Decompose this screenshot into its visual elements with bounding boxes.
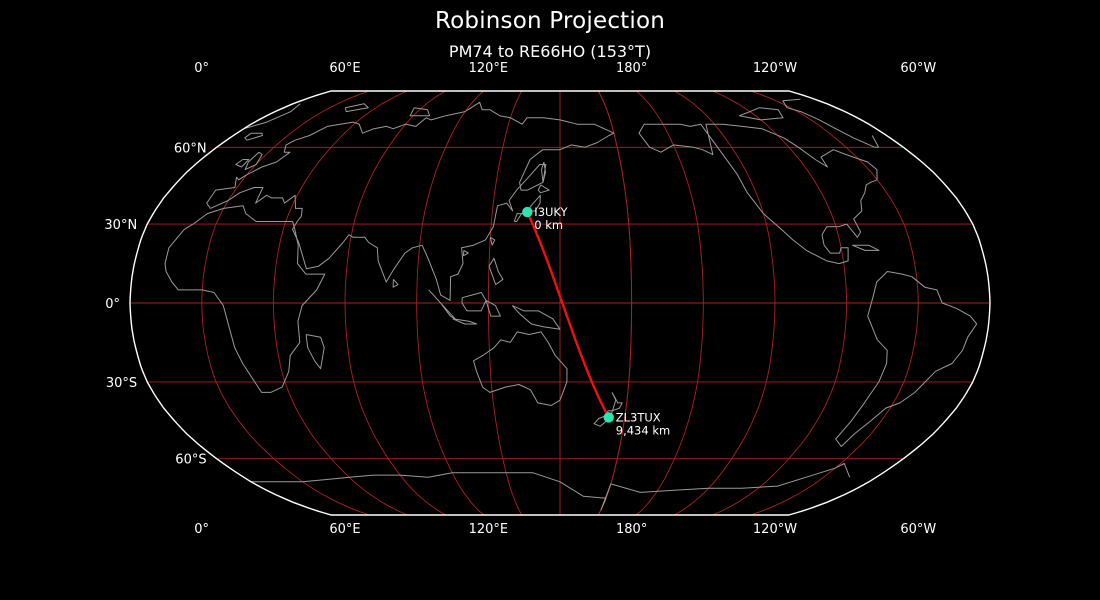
coastline bbox=[306, 335, 324, 369]
coastline bbox=[464, 250, 469, 255]
station-callsign-label: I3UKY bbox=[534, 205, 568, 219]
lat-tick-label: 0° bbox=[105, 297, 120, 312]
coastline bbox=[393, 279, 398, 287]
coastline bbox=[872, 136, 878, 148]
coastline bbox=[639, 124, 877, 263]
lon-tick-label: 60°W bbox=[900, 61, 936, 76]
lon-tick-label: 120°W bbox=[753, 61, 797, 76]
lon-tick-label: 180° bbox=[616, 522, 647, 537]
coastline bbox=[512, 306, 560, 330]
lon-tick-label: 0° bbox=[194, 522, 209, 537]
coastline bbox=[489, 258, 503, 284]
coastline bbox=[852, 245, 879, 250]
coastline bbox=[462, 293, 486, 311]
lon-tick-label: 120°W bbox=[753, 522, 797, 537]
lon-tick-label: 180° bbox=[616, 61, 647, 76]
lon-tick-label: 120°E bbox=[469, 61, 509, 76]
coastline bbox=[165, 206, 325, 393]
map-canvas: I3UKY0 kmZL3TUX9,434 km 0°0°60°E60°E120°… bbox=[0, 0, 1100, 600]
coastline bbox=[538, 185, 549, 193]
station-callsign-label: ZL3TUX bbox=[616, 410, 661, 424]
coastline bbox=[429, 290, 455, 319]
coastline bbox=[490, 237, 495, 245]
coastline bbox=[836, 272, 977, 447]
lat-tick-label: 60°N bbox=[174, 141, 207, 156]
lon-tick-label: 120°E bbox=[469, 522, 509, 537]
station-marker-i3uky[interactable] bbox=[522, 207, 532, 217]
lon-tick-label: 60°E bbox=[329, 522, 360, 537]
lat-tick-label: 30°N bbox=[104, 218, 137, 233]
coastline-layer bbox=[165, 99, 977, 510]
coastline bbox=[739, 108, 783, 120]
coastline bbox=[251, 473, 611, 510]
station-markers[interactable]: I3UKY0 kmZL3TUX9,434 km bbox=[522, 205, 670, 437]
lon-tick-label: 60°E bbox=[329, 61, 360, 76]
lon-tick-label: 0° bbox=[194, 61, 209, 76]
map-figure: Robinson Projection PM74 to RE66HO (153°… bbox=[0, 0, 1100, 600]
station-marker-zl3tux[interactable] bbox=[604, 412, 614, 422]
coastline bbox=[244, 104, 300, 129]
coastline bbox=[453, 319, 477, 324]
lat-tick-label: 30°S bbox=[106, 376, 137, 391]
path-line bbox=[527, 212, 609, 418]
station-distance-label: 9,434 km bbox=[616, 423, 670, 437]
latitude-axis-labels: 60°N30°N0°30°S60°S bbox=[104, 141, 206, 467]
graticule-layer bbox=[130, 91, 990, 515]
world-map: I3UKY0 kmZL3TUX9,434 km 0°0°60°E60°E120°… bbox=[0, 0, 1100, 600]
great-circle-path bbox=[527, 212, 609, 418]
coastline bbox=[474, 332, 568, 406]
coastline bbox=[345, 104, 368, 112]
coastline bbox=[245, 133, 263, 140]
lon-tick-label: 60°W bbox=[900, 522, 936, 537]
longitude-axis-labels: 0°0°60°E60°E120°E120°E180°180°120°W120°W… bbox=[194, 61, 936, 537]
lat-tick-label: 60°S bbox=[175, 453, 206, 468]
coastline bbox=[611, 464, 850, 493]
coastline bbox=[783, 99, 875, 147]
coastline bbox=[207, 102, 614, 300]
coastline bbox=[410, 108, 430, 116]
station-distance-label: 0 km bbox=[534, 218, 563, 232]
